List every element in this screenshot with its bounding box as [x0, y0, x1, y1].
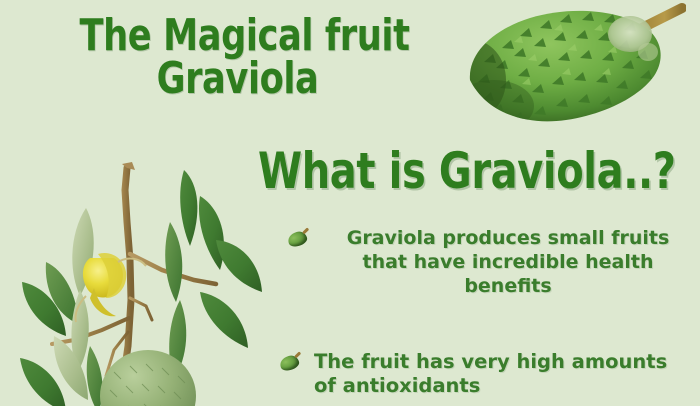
graviola-fruit-photo	[458, 0, 686, 128]
graviola-plant-illustration	[0, 150, 284, 406]
title-line-1: The Magical fruit	[80, 14, 396, 57]
bullet-item: Graviola produces small fruits that have…	[288, 226, 694, 298]
title-line-2: Graviola	[80, 57, 396, 100]
leaf-cluster-right	[165, 170, 262, 380]
graviola-fruit-icon	[280, 355, 304, 373]
bullet-item: The fruit has very high amounts of antio…	[280, 350, 694, 398]
poster-title: The Magical fruit Graviola	[80, 14, 396, 100]
infographic-poster: The Magical fruit Graviola	[0, 0, 700, 406]
section-heading: What is Graviola..?	[258, 146, 676, 196]
bullet-text: The fruit has very high amounts of antio…	[304, 350, 694, 398]
bullet-text: Graviola produces small fruits that have…	[312, 226, 694, 298]
graviola-fruit-icon	[288, 231, 312, 249]
leaf-cluster-left	[20, 208, 103, 406]
